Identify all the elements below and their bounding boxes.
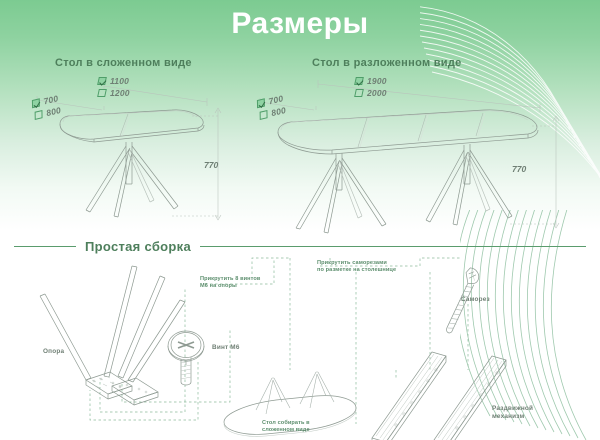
- checkbox-unchecked-icon[interactable]: [260, 110, 268, 120]
- option-row[interactable]: 1100: [98, 76, 130, 86]
- part-label-mechanism: Раздвижной механизм: [492, 405, 533, 421]
- checkbox-checked-icon[interactable]: [32, 98, 40, 108]
- section-title-folded: Стол в сложенном виде: [55, 57, 192, 69]
- checkbox-checked-icon[interactable]: [257, 98, 265, 108]
- header-rule-left: [14, 246, 76, 247]
- option-row[interactable]: 2000: [355, 88, 387, 98]
- unfolded-width-options[interactable]: 1900 2000: [355, 76, 387, 98]
- checkbox-unchecked-icon[interactable]: [35, 110, 43, 120]
- infographic-page: Размеры Стол в сложенном виде: [0, 0, 600, 440]
- option-row[interactable]: 1200: [98, 88, 130, 98]
- section-title-unfolded: Стол в разложенном виде: [312, 57, 462, 69]
- folded-height-value: 770: [204, 160, 218, 170]
- callout-bolts: Прикрутить 8 винтов М6 на опоры: [200, 276, 260, 290]
- folded-width-options[interactable]: 1100 1200: [98, 76, 130, 98]
- assembly-title: Простая сборка: [85, 239, 191, 254]
- option-row[interactable]: 1900: [355, 76, 387, 86]
- checkbox-unchecked-icon[interactable]: [97, 89, 107, 97]
- unfolded-height-value: 770: [512, 164, 526, 174]
- checkbox-checked-icon[interactable]: [354, 77, 364, 85]
- page-title: Размеры: [0, 7, 600, 41]
- dimension-value: 700: [268, 93, 285, 106]
- checkbox-unchecked-icon[interactable]: [354, 89, 364, 97]
- dimension-value: 1200: [110, 88, 130, 98]
- part-label-support: Опора: [43, 348, 64, 356]
- dimension-value: 2000: [367, 88, 387, 98]
- note-assemble-folded: Стол собирать в сложенном виде: [262, 420, 310, 434]
- part-label-bolt: Винт М6: [212, 344, 240, 352]
- dimension-value: 700: [43, 93, 60, 106]
- header-rule-right: [200, 246, 586, 247]
- checkbox-checked-icon[interactable]: [97, 77, 107, 85]
- part-label-screw: Саморез: [461, 296, 490, 304]
- dimension-value: 1100: [110, 76, 129, 86]
- assembly-section-header: Простая сборка: [14, 239, 586, 254]
- callout-screws: Прикрутить саморезами по разметке на сто…: [317, 260, 396, 274]
- dimension-value: 1900: [367, 76, 387, 86]
